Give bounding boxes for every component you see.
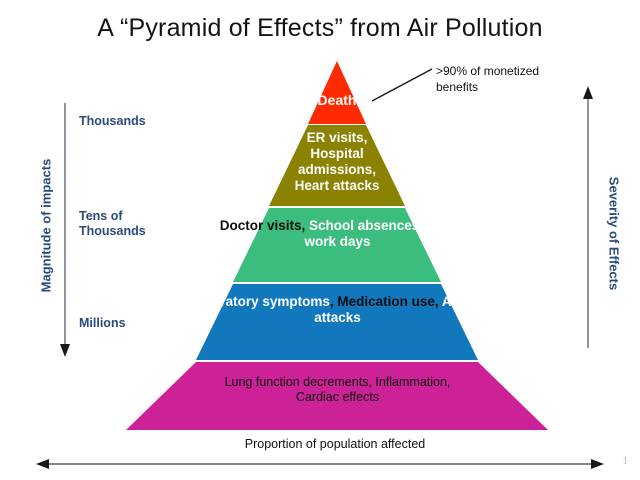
left-axis-arrow-down-icon bbox=[60, 344, 70, 357]
right-axis-title: Severity of Effects bbox=[607, 144, 622, 324]
page-number: 1 bbox=[623, 455, 629, 467]
pyramid-tier-lung-function[interactable] bbox=[126, 362, 548, 430]
slide-canvas: A “Pyramid of Effects” from Air Pollutio… bbox=[0, 0, 640, 480]
callout-line-2: benefits bbox=[436, 79, 596, 95]
callout-annotation: >90% of monetized benefits bbox=[436, 63, 596, 95]
bottom-axis-label: Proportion of population affected bbox=[120, 437, 550, 451]
pyramid-tier-doctor-visits[interactable] bbox=[233, 208, 441, 282]
callout-leader-line bbox=[372, 69, 432, 101]
callout-line-1: >90% of monetized bbox=[436, 63, 596, 79]
pyramid-tier-respiratory[interactable] bbox=[196, 284, 478, 360]
pyramid-tier-er-visits[interactable] bbox=[269, 125, 405, 206]
magnitude-tens-line-1: Tens of bbox=[79, 209, 179, 224]
left-axis-title: Magnitude of impacts bbox=[39, 136, 54, 316]
bottom-axis-arrow-left-icon bbox=[36, 459, 49, 469]
magnitude-label-tens-of-thousands: Tens of Thousands bbox=[79, 209, 179, 239]
bottom-axis-arrow-right-icon bbox=[591, 459, 604, 469]
magnitude-tens-line-2: Thousands bbox=[79, 224, 179, 239]
magnitude-label-millions: Millions bbox=[79, 316, 199, 331]
magnitude-label-thousands: Thousands bbox=[79, 114, 199, 129]
pyramid-tier-death[interactable] bbox=[308, 61, 366, 124]
